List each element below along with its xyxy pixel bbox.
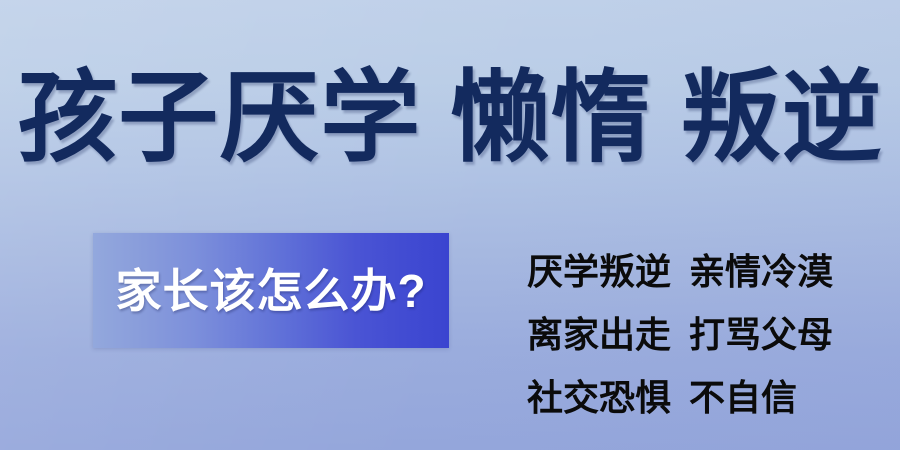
list-item: 厌学叛逆亲情冷漠 <box>527 240 847 303</box>
poster-canvas: 孩子厌学 懒惰 叛逆 家长该怎么办? 厌学叛逆亲情冷漠 离家出走打骂父母 社交恐… <box>0 0 900 450</box>
list-item: 离家出走打骂父母 <box>527 303 847 366</box>
symptom-label: 厌学叛逆 <box>527 251 671 292</box>
question-text: 家长该怎么办? <box>115 265 426 317</box>
symptom-label: 离家出走 <box>527 314 671 355</box>
symptom-label: 亲情冷漠 <box>689 251 833 292</box>
symptom-label: 社交恐惧 <box>527 377 671 418</box>
list-item: 社交恐惧不自信 <box>527 366 847 429</box>
question-highlight-box: 家长该怎么办? <box>93 233 449 348</box>
symptom-list: 厌学叛逆亲情冷漠 离家出走打骂父母 社交恐惧不自信 <box>527 240 847 429</box>
symptom-label: 不自信 <box>689 377 797 418</box>
symptom-label: 打骂父母 <box>689 314 833 355</box>
page-title: 孩子厌学 懒惰 叛逆 <box>0 62 900 174</box>
